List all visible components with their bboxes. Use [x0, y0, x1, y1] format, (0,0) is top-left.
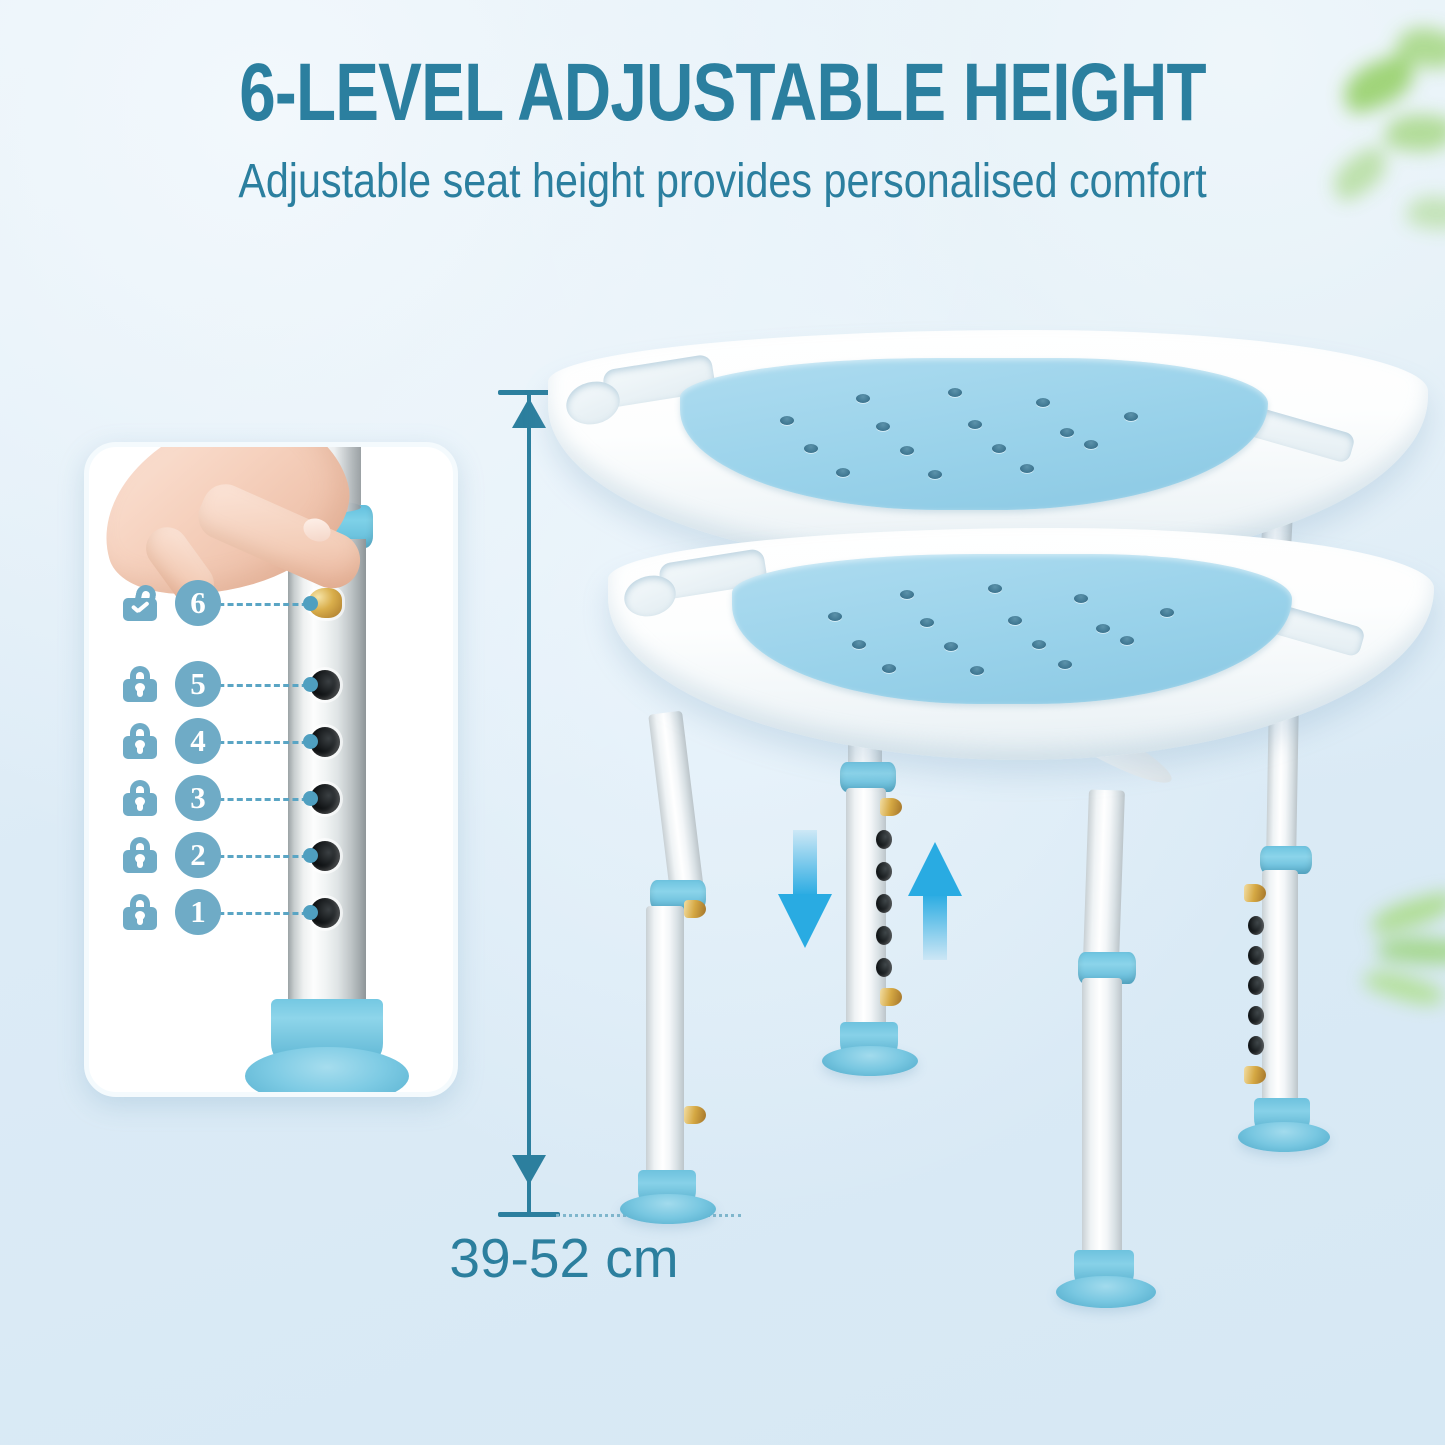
level-number-badge: 6: [175, 580, 221, 626]
dimension-line: [527, 392, 531, 1214]
level-row-2[interactable]: 2: [123, 832, 221, 878]
leaf-shape: [1384, 109, 1445, 156]
rear-right-leg-lower: [1082, 978, 1122, 1268]
page-subtitle: Adjustable seat height provides personal…: [101, 158, 1344, 206]
foliage-decoration-top-right: [1290, 10, 1445, 260]
leader-line-level-4: [209, 741, 317, 744]
leader-line-level-1: [209, 912, 317, 915]
rear-left-leg-pin-lower: [684, 1106, 706, 1124]
lock-closed-icon: [123, 894, 157, 930]
leader-dot-level-3: [303, 791, 318, 806]
front-right-leg-hole: [1248, 1006, 1264, 1025]
leader-dot-level-2: [303, 848, 318, 863]
front-inner-leg-hole: [876, 926, 892, 945]
front-right-leg-hole: [1248, 946, 1264, 965]
front-right-leg-pin-bottom: [1244, 1066, 1266, 1084]
level-detail-inset-panel: 6 5 4 3 2: [84, 442, 458, 1097]
level-number-badge: 5: [175, 661, 221, 707]
unlock-check-icon: [123, 585, 157, 621]
front-right-leg-hole: [1248, 1036, 1264, 1055]
rear-right-leg-foot-base: [1056, 1276, 1156, 1308]
level-number-badge: 1: [175, 889, 221, 935]
leader-dot-level-4: [303, 734, 318, 749]
arrow-head: [908, 842, 962, 896]
leaf-shape: [1337, 52, 1421, 117]
leader-line-level-5: [209, 684, 317, 687]
dimension-label: 39-52 cm: [404, 1226, 724, 1290]
dimension-tick-bottom: [498, 1212, 560, 1217]
rear-left-leg-lower: [646, 906, 684, 1196]
arrow-shaft: [793, 830, 817, 896]
front-right-leg-pin-top: [1244, 884, 1266, 902]
leaf-shape: [1368, 890, 1445, 936]
arrow-head: [778, 894, 832, 948]
lock-closed-icon: [123, 837, 157, 873]
front-inner-leg-foot-base: [822, 1046, 918, 1076]
rear-right-leg: [1083, 789, 1125, 960]
leader-line-level-3: [209, 798, 317, 801]
leaf-shape: [1393, 18, 1445, 78]
infographic-canvas: 6-LEVEL ADJUSTABLE HEIGHT Adjustable sea…: [0, 0, 1445, 1445]
rear-left-leg-foot-base: [620, 1194, 716, 1224]
level-row-4[interactable]: 4: [123, 718, 221, 764]
front-inner-leg-hole: [876, 894, 892, 913]
front-right-leg-lower: [1262, 870, 1298, 1102]
motion-arrow-down: [778, 830, 832, 950]
level-row-3[interactable]: 3: [123, 775, 221, 821]
level-row-1[interactable]: 1: [123, 889, 221, 935]
lock-closed-icon: [123, 780, 157, 816]
front-right-leg-hole: [1248, 976, 1264, 995]
dimension-arrow-top: [512, 398, 546, 428]
level-number-badge: 2: [175, 832, 221, 878]
lock-closed-icon: [123, 666, 157, 702]
level-number-badge: 4: [175, 718, 221, 764]
leaf-shape: [1405, 190, 1445, 237]
leader-line-level-6: [209, 603, 317, 606]
front-inner-leg-hole: [876, 830, 892, 849]
leader-dot-level-5: [303, 677, 318, 692]
lowered-seat: [608, 528, 1434, 760]
front-inner-leg-hole: [876, 862, 892, 881]
leader-line-level-2: [209, 855, 317, 858]
front-inner-leg-hole: [876, 958, 892, 977]
front-inner-leg-pin-top: [880, 798, 902, 816]
inset-tube-foot-base: [245, 1047, 409, 1097]
arrow-shaft: [923, 894, 947, 960]
leaf-shape: [1362, 963, 1445, 1013]
level-row-5[interactable]: 5: [123, 661, 221, 707]
foliage-decoration-right: [1360, 880, 1445, 1080]
leader-dot-level-6: [303, 596, 318, 611]
motion-arrow-up: [908, 842, 962, 962]
rear-left-leg-pin: [684, 900, 706, 918]
leaf-shape: [1377, 933, 1445, 968]
dimension-arrow-bottom: [512, 1155, 546, 1185]
front-inner-leg-pin-bottom: [880, 988, 902, 1006]
front-right-leg-foot-base: [1238, 1122, 1330, 1152]
level-row-6[interactable]: 6: [123, 580, 221, 626]
page-title: 6-LEVEL ADJUSTABLE HEIGHT: [145, 52, 1301, 134]
front-right-leg-hole: [1248, 916, 1264, 935]
leader-dot-level-1: [303, 905, 318, 920]
level-number-badge: 3: [175, 775, 221, 821]
lock-closed-icon: [123, 723, 157, 759]
